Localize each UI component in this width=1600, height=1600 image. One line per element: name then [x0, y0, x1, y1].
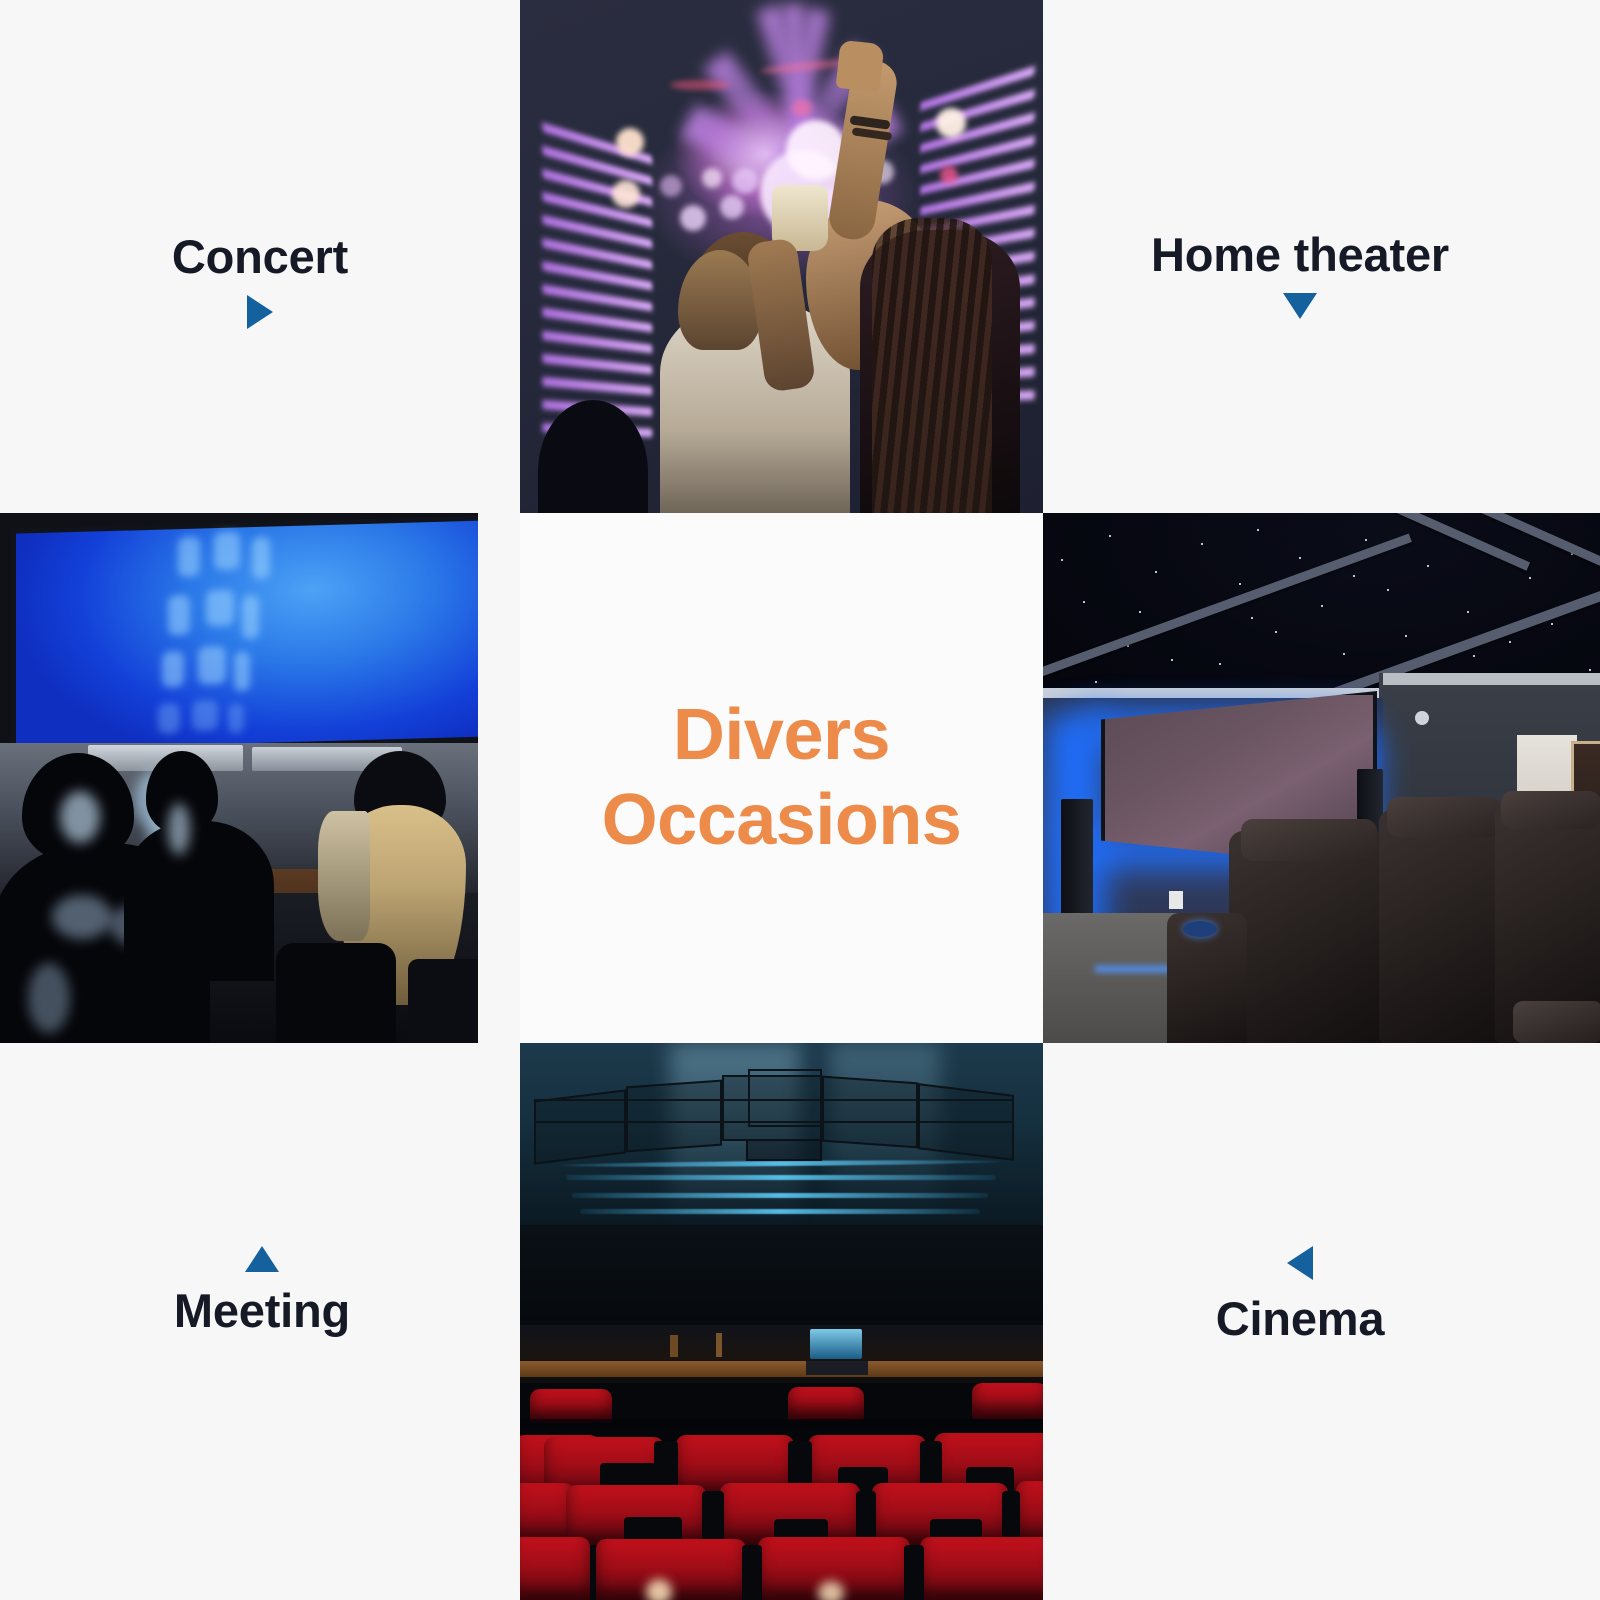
label-concert: Concert: [165, 232, 355, 329]
page-title: Divers Occasions: [602, 693, 962, 863]
label-home-theater-text: Home theater: [1151, 230, 1449, 279]
projection-screen: [16, 520, 478, 749]
label-concert-text: Concert: [172, 232, 348, 281]
photo-concert: [520, 0, 1043, 513]
label-home-theater: Home theater: [1142, 230, 1458, 319]
label-meeting: Meeting: [172, 1246, 352, 1335]
triangle-up-icon: [245, 1246, 279, 1272]
photo-home-theater: [1043, 513, 1600, 1043]
title-line-1: Divers: [602, 693, 962, 778]
label-meeting-text: Meeting: [174, 1286, 350, 1335]
infographic-canvas: Divers Occasions: [0, 0, 1600, 1600]
triangle-down-icon: [1283, 293, 1317, 319]
center-title-panel: Divers Occasions: [520, 513, 1043, 1043]
label-cinema-text: Cinema: [1216, 1294, 1385, 1343]
triangle-right-icon: [247, 295, 273, 329]
photo-meeting: [0, 513, 478, 1043]
photo-cinema: [520, 1043, 1043, 1600]
title-line-2: Occasions: [602, 778, 962, 863]
triangle-left-icon: [1287, 1246, 1313, 1280]
label-cinema: Cinema: [1214, 1246, 1386, 1343]
